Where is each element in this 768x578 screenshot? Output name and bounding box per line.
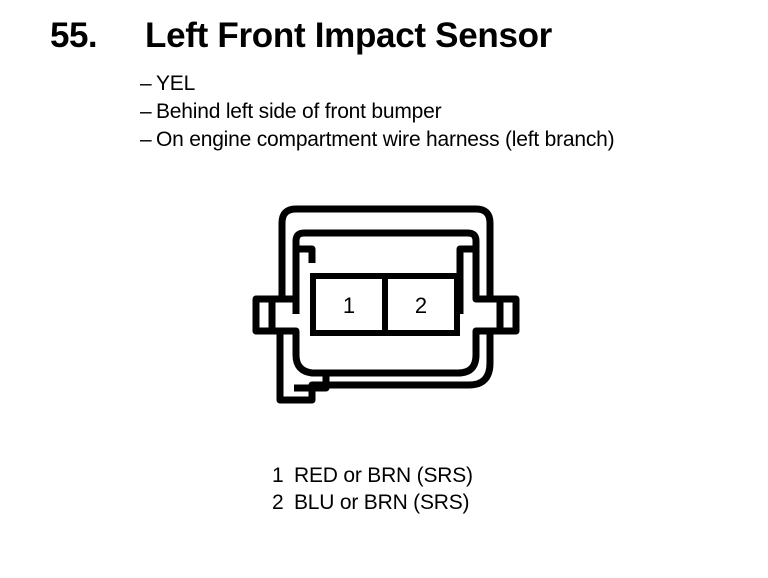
list-item: –YEL bbox=[140, 70, 614, 98]
page-title: Left Front Impact Sensor bbox=[145, 16, 552, 56]
page-header: 55. Left Front Impact Sensor bbox=[50, 16, 552, 56]
legend-pin-description: RED or BRN (SRS) bbox=[294, 464, 473, 487]
detail-list: –YEL –Behind left side of front bumper –… bbox=[140, 70, 614, 154]
legend-pin-description: BLU or BRN (SRS) bbox=[294, 491, 469, 514]
list-item: –On engine compartment wire harness (lef… bbox=[140, 126, 614, 154]
legend-row: 2BLU or BRN (SRS) bbox=[272, 489, 473, 516]
pin-legend: 1RED or BRN (SRS) 2BLU or BRN (SRS) bbox=[272, 462, 473, 516]
connector-outline-svg: 1 2 bbox=[250, 203, 535, 418]
list-item-label: On engine compartment wire harness (left… bbox=[156, 128, 614, 151]
legend-pin-number: 1 bbox=[272, 462, 294, 489]
bullet-dash-icon: – bbox=[140, 126, 156, 154]
pin-cavity-1-label: 1 bbox=[343, 293, 355, 318]
legend-pin-number: 2 bbox=[272, 489, 294, 516]
list-item: –Behind left side of front bumper bbox=[140, 98, 614, 126]
list-item-label: YEL bbox=[156, 72, 195, 95]
bullet-dash-icon: – bbox=[140, 70, 156, 98]
item-number: 55. bbox=[50, 16, 145, 56]
bullet-dash-icon: – bbox=[140, 98, 156, 126]
connector-diagram: 1 2 bbox=[250, 203, 535, 418]
list-item-label: Behind left side of front bumper bbox=[156, 100, 441, 123]
pin-cavity-2-label: 2 bbox=[415, 293, 427, 318]
legend-row: 1RED or BRN (SRS) bbox=[272, 462, 473, 489]
